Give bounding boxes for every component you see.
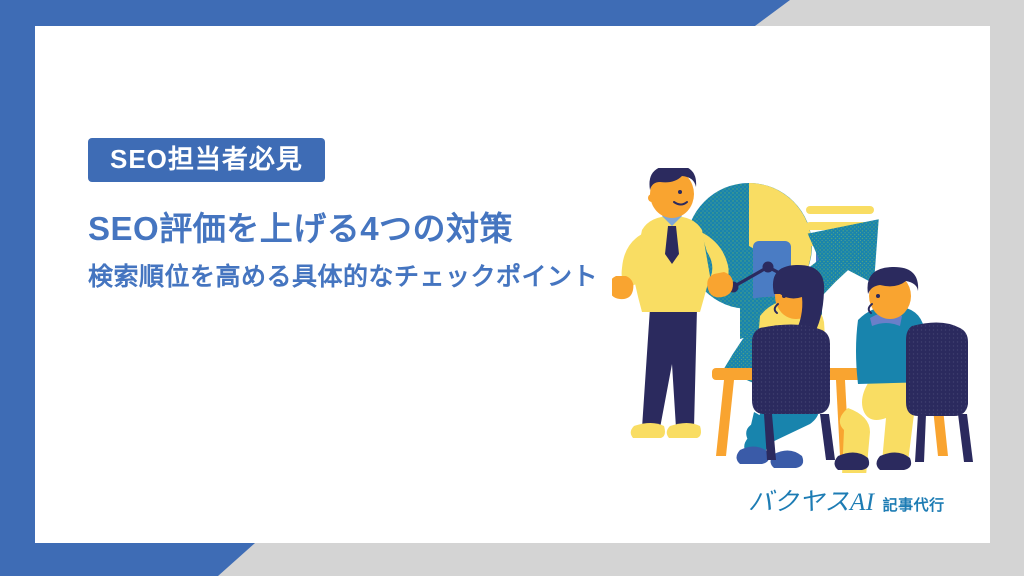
business-team-analytics-illustration	[612, 168, 977, 473]
text-block: SEO担当者必見 SEO評価を上げる4つの対策 検索順位を高める具体的なチェック…	[88, 138, 648, 295]
left-blue-bar	[0, 0, 35, 576]
badge-label: SEO担当者必見	[88, 138, 325, 182]
logo-main-text: バクヤスAI	[748, 482, 875, 518]
logo-sub-text: 記事代行	[883, 494, 945, 515]
bottom-blue-bar	[0, 543, 255, 576]
page-title: SEO評価を上げる4つの対策	[88, 208, 648, 249]
top-blue-bar	[0, 0, 790, 26]
page-subtitle: 検索順位を高める具体的なチェックポイント	[88, 260, 643, 295]
brand-logo: バクヤスAI 記事代行	[748, 482, 945, 518]
slide-canvas: SEO担当者必見 SEO評価を上げる4つの対策 検索順位を高める具体的なチェック…	[0, 0, 1024, 576]
